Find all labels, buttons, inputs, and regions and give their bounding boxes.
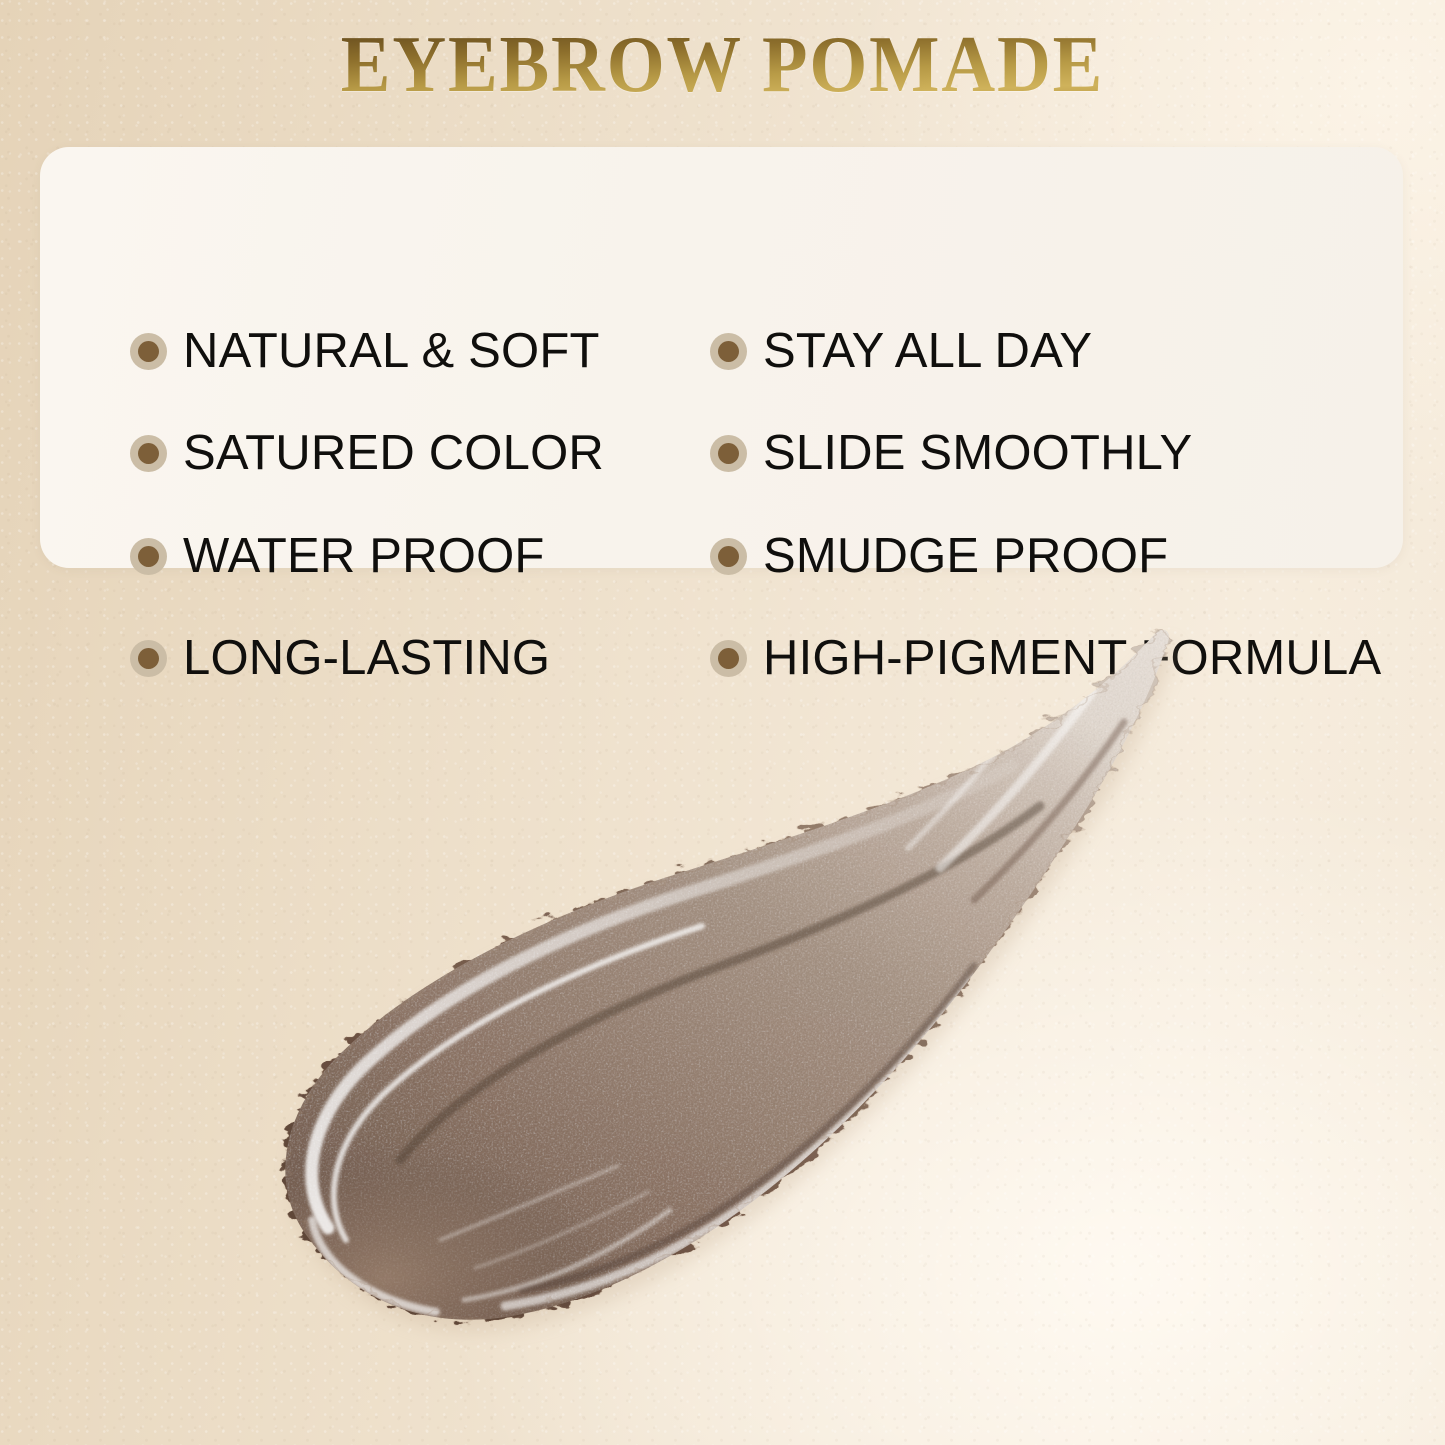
feature-item-water-proof: WATER PROOF xyxy=(130,532,545,581)
feature-item-satured-color: SATURED COLOR xyxy=(130,429,604,478)
feature-label: NATURAL & SOFT xyxy=(183,327,600,376)
bullet-icon xyxy=(130,333,167,370)
bullet-icon xyxy=(130,640,167,677)
bullet-icon xyxy=(710,435,747,472)
feature-label: SMUDGE PROOF xyxy=(763,532,1168,581)
feature-item-smudge-proof: SMUDGE PROOF xyxy=(710,532,1168,581)
poster-canvas: EYEBROW POMADE NATURAL & SOFT SATURED CO… xyxy=(0,0,1445,1445)
feature-grid: NATURAL & SOFT SATURED COLOR WATER PROOF… xyxy=(40,147,1403,568)
feature-item-slide-smoothly: SLIDE SMOOTHLY xyxy=(710,429,1192,478)
feature-label: STAY ALL DAY xyxy=(763,327,1092,376)
page-title: EYEBROW POMADE xyxy=(58,24,1387,105)
feature-item-stay-all-day: STAY ALL DAY xyxy=(710,327,1092,376)
bullet-icon xyxy=(710,333,747,370)
pomade-smear-swatch xyxy=(250,600,1270,1410)
swatch-texture xyxy=(250,600,1270,1410)
bullet-icon xyxy=(130,435,167,472)
bullet-icon xyxy=(710,538,747,575)
feature-card: NATURAL & SOFT SATURED COLOR WATER PROOF… xyxy=(40,147,1403,568)
feature-label: SATURED COLOR xyxy=(183,429,604,478)
feature-label: WATER PROOF xyxy=(183,532,545,581)
feature-item-natural-soft: NATURAL & SOFT xyxy=(130,327,600,376)
bullet-icon xyxy=(130,538,167,575)
feature-label: SLIDE SMOOTHLY xyxy=(763,429,1192,478)
